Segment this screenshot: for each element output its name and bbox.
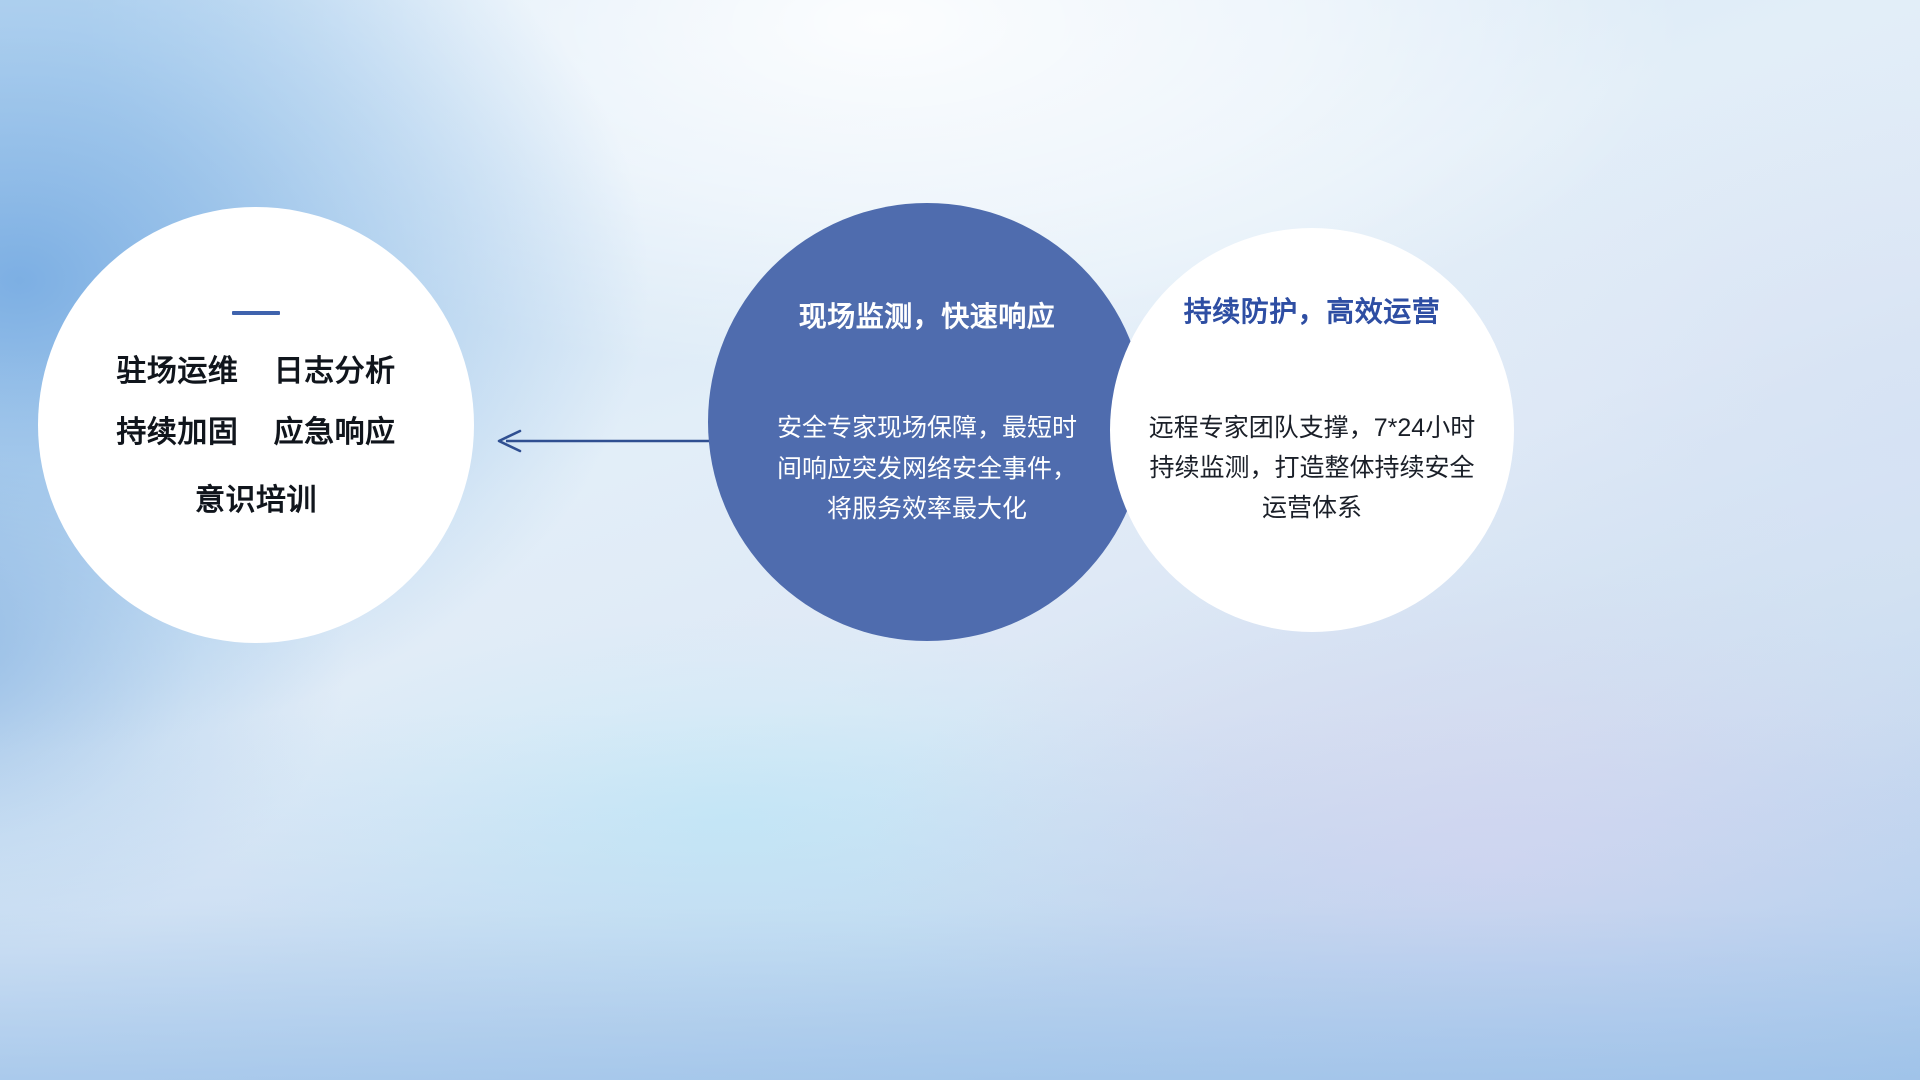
card-continuous-protection-content: 持续防护，高效运营 远程专家团队支撑，7*24小时持续监测，打造整体持续安全运营… <box>1110 290 1514 528</box>
capability-line-3: 意识培训 <box>72 486 440 516</box>
card-continuous-protection-body: 远程专家团队支撑，7*24小时持续监测，打造整体持续安全运营体系 <box>1122 408 1502 528</box>
capability-line-1: 驻场运维 日志分析 <box>72 357 440 387</box>
card-continuous-protection-heading: 持续防护，高效运营 <box>1122 290 1502 330</box>
card-onsite-monitoring-heading: 现场监测，快速响应 <box>726 295 1128 335</box>
card-onsite-monitoring-content: 现场监测，快速响应 安全专家现场保障，最短时间响应突发网络安全事件，将服务效率最… <box>708 295 1146 530</box>
card-onsite-monitoring[interactable]: 现场监测，快速响应 安全专家现场保障，最短时间响应突发网络安全事件，将服务效率最… <box>708 203 1146 641</box>
card-capabilities[interactable]: 驻场运维 日志分析 持续加固 应急响应 意识培训 <box>38 207 474 643</box>
card-continuous-protection[interactable]: 持续防护，高效运营 远程专家团队支撑，7*24小时持续监测，打造整体持续安全运营… <box>1110 228 1514 632</box>
card-onsite-monitoring-body: 安全专家现场保障，最短时间响应突发网络安全事件，将服务效率最大化 <box>726 408 1128 530</box>
card-capabilities-content: 驻场运维 日志分析 持续加固 应急响应 意识培训 <box>38 311 474 516</box>
divider-dash-icon <box>232 311 280 315</box>
slide-canvas: 驻场运维 日志分析 持续加固 应急响应 意识培训 现场监测，快速响应 安全专家现… <box>0 0 1920 1080</box>
capability-line-2: 持续加固 应急响应 <box>72 418 440 448</box>
connector-arrow-left <box>480 414 720 468</box>
